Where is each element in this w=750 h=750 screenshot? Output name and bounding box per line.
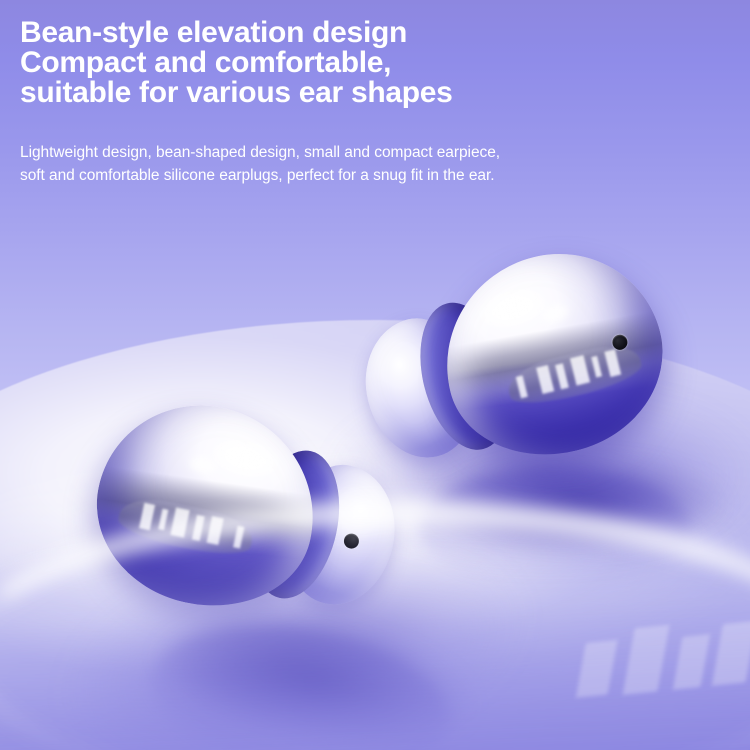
subcopy: Lightweight design, bean-shaped design, … <box>20 108 730 187</box>
headline-line-3: suitable for various ear shapes <box>20 78 730 108</box>
product-scene <box>0 200 750 750</box>
chrome-window-reflection <box>504 338 645 411</box>
headline-line-1: Bean-style elevation design <box>20 18 730 48</box>
specular-highlight <box>477 284 549 332</box>
ambient-window-reflections <box>557 602 750 741</box>
headline-line-2: Compact and comfortable, <box>20 48 730 78</box>
specular-highlight <box>210 435 281 482</box>
product-banner: Bean-style elevation design Compact and … <box>0 0 750 750</box>
copy-block: Bean-style elevation design Compact and … <box>20 18 730 187</box>
headline: Bean-style elevation design Compact and … <box>20 18 730 108</box>
subcopy-line-2: soft and comfortable silicone earplugs, … <box>20 164 730 187</box>
subcopy-line-1: Lightweight design, bean-shaped design, … <box>20 141 730 164</box>
